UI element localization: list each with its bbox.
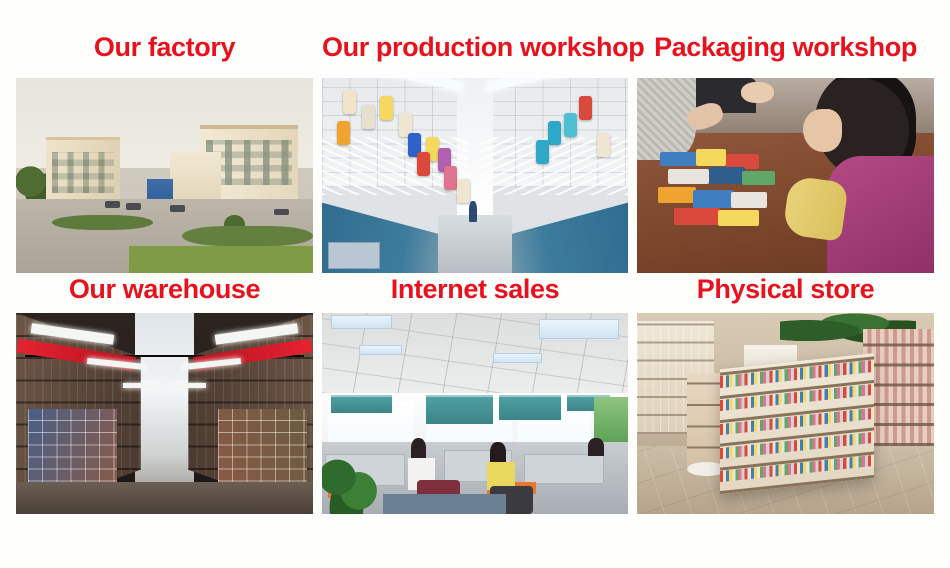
photo-internet-sales[interactable] bbox=[322, 313, 628, 514]
photo-physical-store[interactable] bbox=[637, 313, 934, 514]
gallery-collage: Our factory Our production workshop bbox=[0, 0, 950, 568]
photo-production-workshop[interactable] bbox=[322, 78, 628, 273]
parked-car bbox=[170, 205, 185, 212]
photo-factory[interactable] bbox=[16, 78, 313, 273]
factory-building-left bbox=[46, 137, 120, 207]
yarn-spool bbox=[457, 179, 470, 203]
cubicle-partition bbox=[524, 454, 604, 484]
machine-control-panel bbox=[328, 242, 380, 269]
sock-row bbox=[720, 408, 874, 435]
sock-row bbox=[720, 455, 874, 482]
yarn-spool bbox=[564, 113, 577, 137]
yarn-spool bbox=[362, 105, 375, 129]
sock-row bbox=[720, 384, 874, 411]
office-floor bbox=[383, 494, 505, 514]
gallery-cell-packaging-workshop[interactable]: Packaging workshop bbox=[637, 34, 934, 273]
sock bbox=[668, 169, 709, 184]
hedge bbox=[52, 215, 153, 231]
sock bbox=[674, 208, 720, 224]
gallery-cell-production-workshop[interactable]: Our production workshop bbox=[322, 34, 628, 273]
aisle-floor bbox=[438, 215, 511, 274]
yarn-spool bbox=[444, 166, 457, 190]
parked-car bbox=[126, 203, 141, 210]
ceiling-light-panel bbox=[331, 315, 392, 329]
sock bbox=[693, 190, 734, 208]
caption-factory: Our factory bbox=[16, 34, 313, 61]
gallery-cell-physical-store[interactable]: Physical store bbox=[637, 276, 934, 514]
worker-right-face bbox=[803, 109, 842, 152]
caption-production-workshop: Our production workshop bbox=[322, 34, 628, 61]
yarn-spool bbox=[548, 121, 561, 145]
sock-row bbox=[720, 432, 874, 459]
photo-warehouse[interactable] bbox=[16, 313, 313, 514]
yarn-spool bbox=[536, 140, 549, 164]
caption-physical-store: Physical store bbox=[637, 276, 934, 303]
yarn-spool bbox=[417, 152, 430, 176]
yarn-spool bbox=[343, 90, 356, 114]
sock bbox=[709, 167, 745, 183]
hedge bbox=[182, 226, 313, 246]
yarn-spool bbox=[380, 96, 393, 120]
employee bbox=[490, 442, 505, 464]
green-accent-wall bbox=[594, 397, 628, 441]
sock bbox=[696, 149, 726, 165]
yarn-spool bbox=[337, 121, 350, 145]
gallery-cell-factory[interactable]: Our factory bbox=[16, 34, 313, 273]
worker bbox=[469, 201, 477, 222]
roller-blind bbox=[331, 395, 392, 413]
yarn-spool bbox=[597, 133, 610, 157]
employee bbox=[588, 438, 603, 456]
gondola-sock-rack bbox=[720, 353, 874, 494]
sock bbox=[718, 210, 759, 226]
caption-internet-sales: Internet sales bbox=[322, 276, 628, 303]
ceiling-light-panel bbox=[539, 319, 619, 339]
gallery-cell-warehouse[interactable]: Our warehouse bbox=[16, 276, 313, 514]
potted-plant bbox=[322, 450, 380, 514]
worker-hand bbox=[741, 82, 774, 103]
roller-blind bbox=[499, 395, 560, 419]
sock bbox=[731, 192, 767, 208]
caption-packaging-workshop: Packaging workshop bbox=[637, 34, 934, 61]
sock bbox=[742, 171, 775, 186]
gallery-cell-internet-sales[interactable]: Internet sales bbox=[322, 276, 628, 514]
ceiling-light-panel bbox=[493, 353, 542, 363]
roller-blind bbox=[426, 395, 493, 423]
employee bbox=[411, 438, 426, 460]
caption-warehouse: Our warehouse bbox=[16, 276, 313, 303]
lawn bbox=[129, 246, 313, 273]
sock-pile bbox=[655, 144, 792, 226]
parked-car bbox=[274, 209, 289, 216]
ceiling-light-panel bbox=[123, 383, 159, 388]
warehouse-floor bbox=[16, 482, 313, 514]
sock bbox=[658, 187, 696, 203]
ceiling-light-panel bbox=[170, 383, 206, 388]
yarn-spool bbox=[579, 96, 592, 120]
parked-car bbox=[105, 201, 120, 208]
photo-packaging-workshop[interactable] bbox=[637, 78, 934, 273]
sock bbox=[660, 152, 696, 165]
ceiling-light-panel bbox=[359, 345, 402, 355]
